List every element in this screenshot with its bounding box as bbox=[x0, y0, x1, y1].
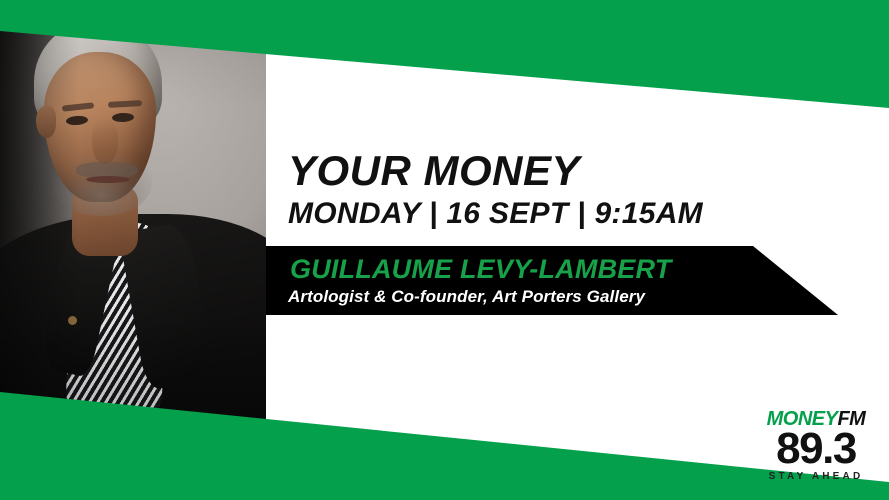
guest-banner: GUILLAUME LEVY-LAMBERT Artologist & Co-f… bbox=[266, 246, 841, 315]
headline-block: YOUR MONEY MONDAY | 16 SEPT | 9:15AM bbox=[288, 150, 703, 230]
show-title: YOUR MONEY bbox=[288, 150, 703, 192]
logo-tagline: STAY AHEAD bbox=[755, 471, 877, 482]
guest-name: GUILLAUME LEVY-LAMBERT bbox=[290, 254, 671, 285]
station-logo: MONEYFM 89.3 STAY AHEAD bbox=[755, 409, 877, 482]
logo-frequency: 89.3 bbox=[755, 428, 877, 470]
show-schedule: MONDAY | 16 SEPT | 9:15AM bbox=[288, 198, 703, 230]
promo-graphic: YOUR MONEY MONDAY | 16 SEPT | 9:15AM GUI… bbox=[0, 0, 889, 500]
guest-role: Artologist & Co-founder, Art Porters Gal… bbox=[288, 287, 645, 307]
